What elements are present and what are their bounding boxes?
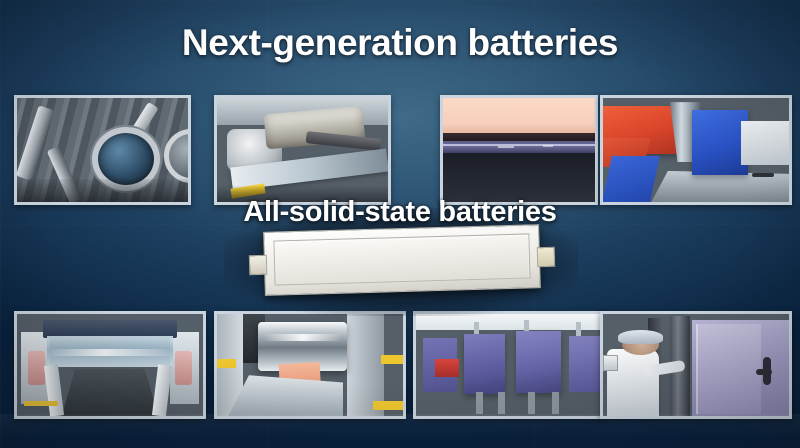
guide-rail: [44, 364, 64, 416]
layer-top-peach: [443, 98, 595, 133]
safety-floor-marking: [24, 401, 57, 406]
page-title: Next-generation batteries: [0, 22, 800, 64]
safety-marking: [373, 401, 403, 410]
tray-slot: [752, 173, 774, 177]
all-solid-state-battery-figure: [250, 224, 552, 298]
presentation-slide: Next-generation batteries: [0, 0, 800, 448]
photo-tile-roll-machine: [214, 95, 391, 205]
roll-machine-photo: [217, 98, 388, 202]
layer-interface-dark: [443, 133, 595, 140]
test-chamber: [569, 336, 601, 391]
molded-blocks-photo: [603, 98, 789, 202]
chamber-leg: [498, 392, 505, 414]
battery-pouch-cell: [263, 224, 541, 296]
photo-tile-glovebox: [14, 95, 191, 205]
wall-control-panel: [603, 355, 618, 371]
layer-speck: [543, 145, 553, 147]
control-cabinet-red: [435, 359, 459, 377]
white-housing: [741, 121, 789, 165]
conveyor-belt: [305, 132, 381, 152]
safety-marking: [381, 355, 403, 364]
photo-tile-calender-press: [214, 311, 406, 419]
chamber-door: [696, 324, 761, 414]
battery-terminal-tab-right: [537, 247, 556, 267]
glovebox-photo: [17, 98, 188, 202]
test-chamber: [516, 331, 561, 392]
calender-press-photo: [217, 314, 403, 416]
layer-cross-section-photo: [443, 98, 595, 202]
operator-hair-cap: [618, 330, 663, 343]
roller-end-cap: [175, 351, 192, 386]
chamber-leg: [528, 392, 535, 414]
chamber-leg: [552, 392, 559, 414]
battery-cell-inner-face: [273, 233, 530, 285]
glass-highlight: [50, 349, 169, 356]
layer-highlight-line: [443, 144, 595, 146]
roller-highlight: [265, 334, 339, 340]
conveyor-belt: [62, 369, 159, 416]
door-handle-icon: [756, 369, 772, 375]
cleanroom-operator-photo: [603, 314, 789, 416]
safety-marking: [217, 359, 236, 368]
floor-sheen: [0, 414, 800, 448]
chamber-leg: [476, 392, 483, 414]
layer-speck: [498, 146, 514, 148]
battery-terminal-tab-left: [249, 255, 268, 275]
environmental-chambers-photo: [416, 314, 602, 416]
photo-tile-coating-line: [14, 311, 206, 419]
coating-line-photo: [17, 314, 203, 416]
guide-rail: [152, 364, 172, 416]
output-chute: [228, 375, 343, 416]
photo-tile-layer-cross-section: [440, 95, 598, 205]
photo-tile-molded-blocks: [600, 95, 792, 205]
photo-tile-environmental-chambers: [413, 311, 605, 419]
ceiling: [416, 314, 602, 330]
roller-end-cap: [28, 351, 45, 386]
subtitle: All-solid-state batteries: [0, 196, 800, 229]
photo-tile-cleanroom-operator: [600, 311, 792, 419]
test-chamber: [464, 334, 505, 393]
layer-electrolyte-violet: [443, 141, 595, 153]
layer-substrate-dark: [443, 153, 595, 202]
